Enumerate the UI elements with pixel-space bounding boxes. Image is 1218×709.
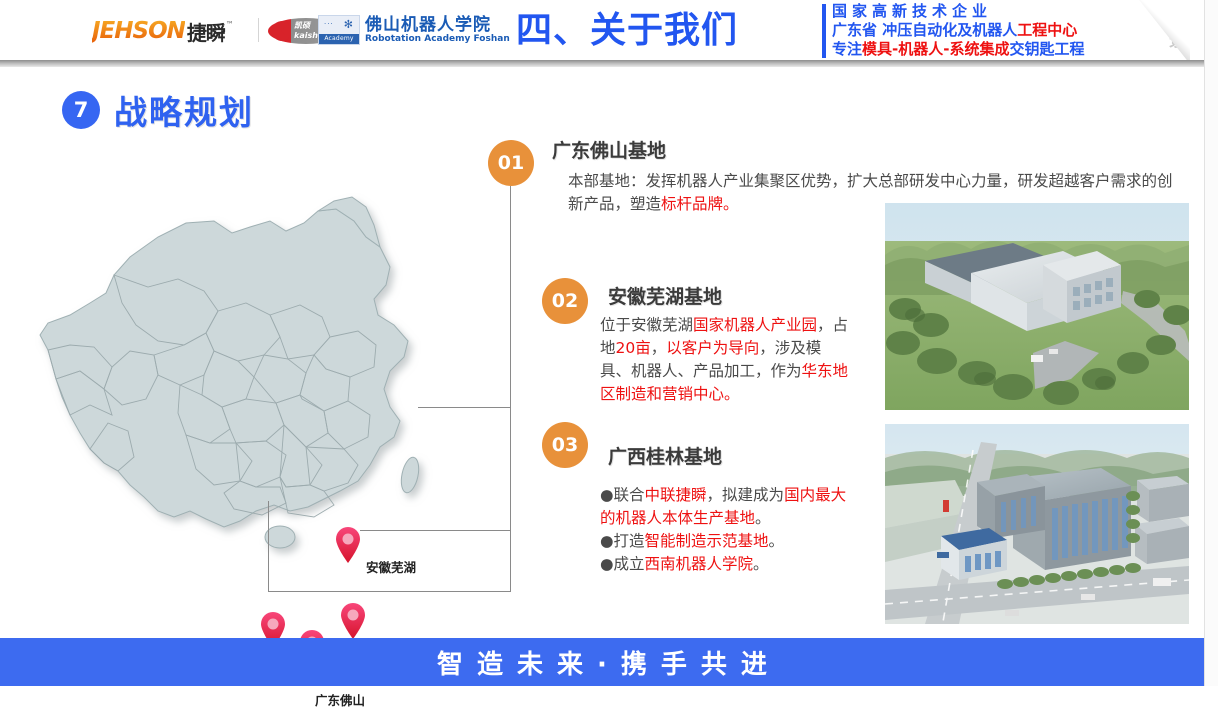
page-number-badge: 7 [62, 91, 100, 129]
block-body-02: 位于安徽芜湖国家机器人产业园，占地20亩，以客户为导向，涉及模具、机器人、产品加… [600, 314, 852, 406]
block-03-bullet-1: ●联合中联捷瞬，拟建成为国内最大的机器人本体生产基地。 [600, 484, 852, 530]
page-curl-decoration: 景 [1128, 0, 1190, 64]
page-title-row: 7 战略规划 [62, 86, 254, 134]
slide-root: JEHSON 捷瞬 ™ 凯硕 kaishuo ··· ✻ Academy 佛山机… [0, 0, 1218, 686]
header-line-3: 专注模具-机器人-系统集成交钥匙工程 [832, 40, 1162, 59]
robotation-en: Robotation Academy Foshan [365, 34, 510, 45]
robotation-text: 佛山机器人学院 Robotation Academy Foshan [365, 16, 510, 45]
block-heading-01: 广东佛山基地 [552, 136, 666, 163]
robotation-badge-label: Academy [319, 34, 359, 44]
china-map: 安徽芜湖 广西平乐县 广东江门 广东佛山 [18, 175, 488, 575]
connector-03-vertical [510, 530, 511, 592]
block-03-bullet-2: ●打造智能制造示范基地。 [600, 530, 852, 553]
header-rule [0, 60, 1204, 67]
logo-jehson-tm: ™ [226, 20, 234, 29]
connector-01-vertical [510, 186, 511, 408]
connector-02-to-foshan [360, 530, 511, 531]
map-label-anhui-wuhu: 安徽芜湖 [366, 557, 416, 576]
connector-02-vertical [510, 408, 511, 530]
header-line-1: 国家高新技术企业 [832, 2, 1162, 21]
block-heading-02: 安徽芜湖基地 [608, 282, 722, 309]
map-pin-guangdong-jiangmen[interactable] [340, 603, 366, 639]
photo-guilin-base-render [885, 424, 1189, 624]
robotation-mark-icon: ··· ✻ Academy [318, 15, 360, 45]
robotation-cn: 佛山机器人学院 [365, 16, 510, 34]
connector-01-to-wuhu [418, 407, 511, 408]
header-slogan-lines: 国家高新技术企业 广东省 冲压自动化及机器人工程中心 专注模具-机器人-系统集成… [832, 2, 1162, 59]
page-title: 战略规划 [114, 86, 254, 134]
logo-robotation-academy: ··· ✻ Academy 佛山机器人学院 Robotation Academy… [318, 15, 510, 45]
header-line-2: 广东省 冲压自动化及机器人工程中心 [832, 21, 1162, 40]
block-badge-01: 01 [488, 140, 534, 186]
block-body-03: ●联合中联捷瞬，拟建成为国内最大的机器人本体生产基地。 ●打造智能制造示范基地。… [600, 484, 852, 576]
block-badge-02: 02 [542, 278, 588, 324]
map-pin-anhui-wuhu[interactable] [335, 527, 361, 563]
section-title: 四、关于我们 [516, 6, 738, 56]
photo-1-graphic [885, 203, 1189, 410]
logo-jehson: JEHSON 捷瞬 ™ [92, 20, 234, 43]
logo-jehson-cn: 捷瞬 [187, 23, 225, 43]
block-03-bullet-3: ●成立西南机器人学院。 [600, 553, 852, 576]
photo-foshan-base-render [885, 203, 1189, 410]
robotation-dots-icon: ··· [324, 20, 334, 28]
header-divider [822, 4, 826, 58]
connector-03-horizontal [268, 591, 511, 592]
page-curl-fold [1128, 0, 1190, 64]
footer-slogan: 智造未来·携手共进 [423, 644, 781, 681]
map-label-guangdong-foshan: 广东佛山 [315, 690, 365, 709]
robotation-star-icon: ✻ [344, 18, 353, 31]
slide-header: JEHSON 捷瞬 ™ 凯硕 kaishuo ··· ✻ Academy 佛山机… [0, 0, 1204, 60]
logo-jehson-latin: JEHSON [92, 20, 185, 43]
block-badge-03: 03 [542, 422, 588, 468]
photo-2-graphic [885, 424, 1189, 624]
block-heading-03: 广西桂林基地 [608, 442, 722, 469]
slide-footer: 智造未来·携手共进 [0, 638, 1204, 686]
logo-divider [258, 18, 259, 42]
right-gutter [1204, 0, 1218, 686]
china-map-shape [18, 175, 488, 575]
connector-03-to-pingle [268, 501, 269, 592]
